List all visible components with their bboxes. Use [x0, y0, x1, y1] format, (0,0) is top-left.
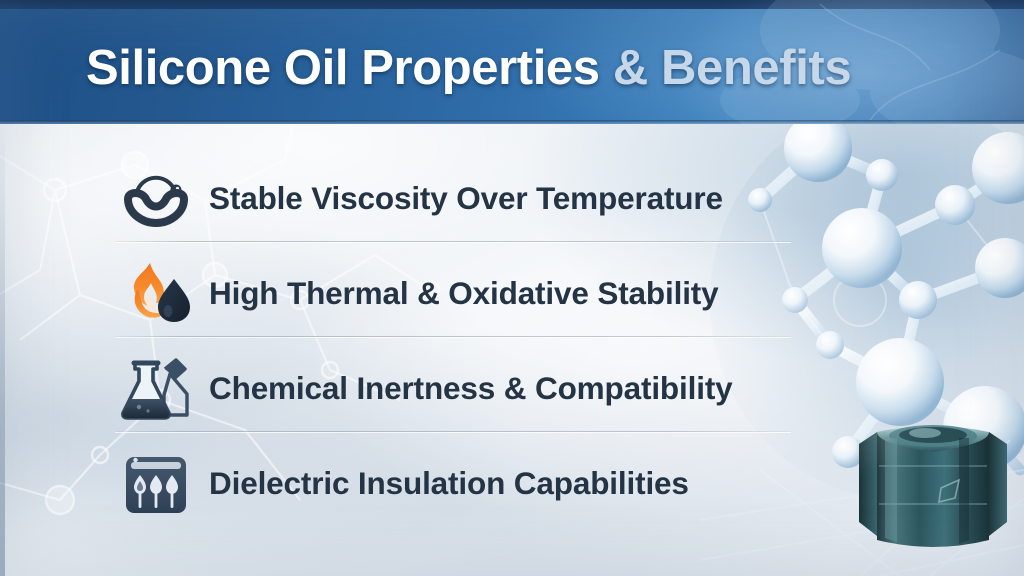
list-item[interactable]: High Thermal & Oxidative Stability [112, 247, 802, 341]
benefits-list: Stable Viscosity Over Temperature [0, 124, 1024, 576]
viscosity-wave-icon [112, 163, 200, 235]
list-item-label: High Thermal & Oxidative Stability [200, 278, 719, 310]
slide-root: Silicone Oil Properties & Benefits Stabl… [0, 0, 1024, 576]
list-item-label: Dielectric Insulation Capabilities [200, 468, 689, 500]
flame-droplet-icon [112, 258, 200, 330]
header-banner: Silicone Oil Properties & Benefits [0, 0, 1024, 124]
dielectric-insulator-icon [112, 448, 200, 520]
list-item[interactable]: Dielectric Insulation Capabilities [112, 437, 802, 531]
page-title-main: Silicone Oil Properties [86, 41, 600, 95]
lab-flask-icon [112, 353, 200, 425]
list-item-label: Stable Viscosity Over Temperature [200, 183, 723, 215]
list-item[interactable]: Chemical Inertness & Compatibility [112, 342, 802, 436]
page-title: Silicone Oil Properties & Benefits [86, 44, 851, 93]
page-title-accent: & Benefits [600, 41, 852, 95]
list-item[interactable]: Stable Viscosity Over Temperature [112, 152, 802, 246]
list-item-label: Chemical Inertness & Compatibility [200, 373, 733, 405]
